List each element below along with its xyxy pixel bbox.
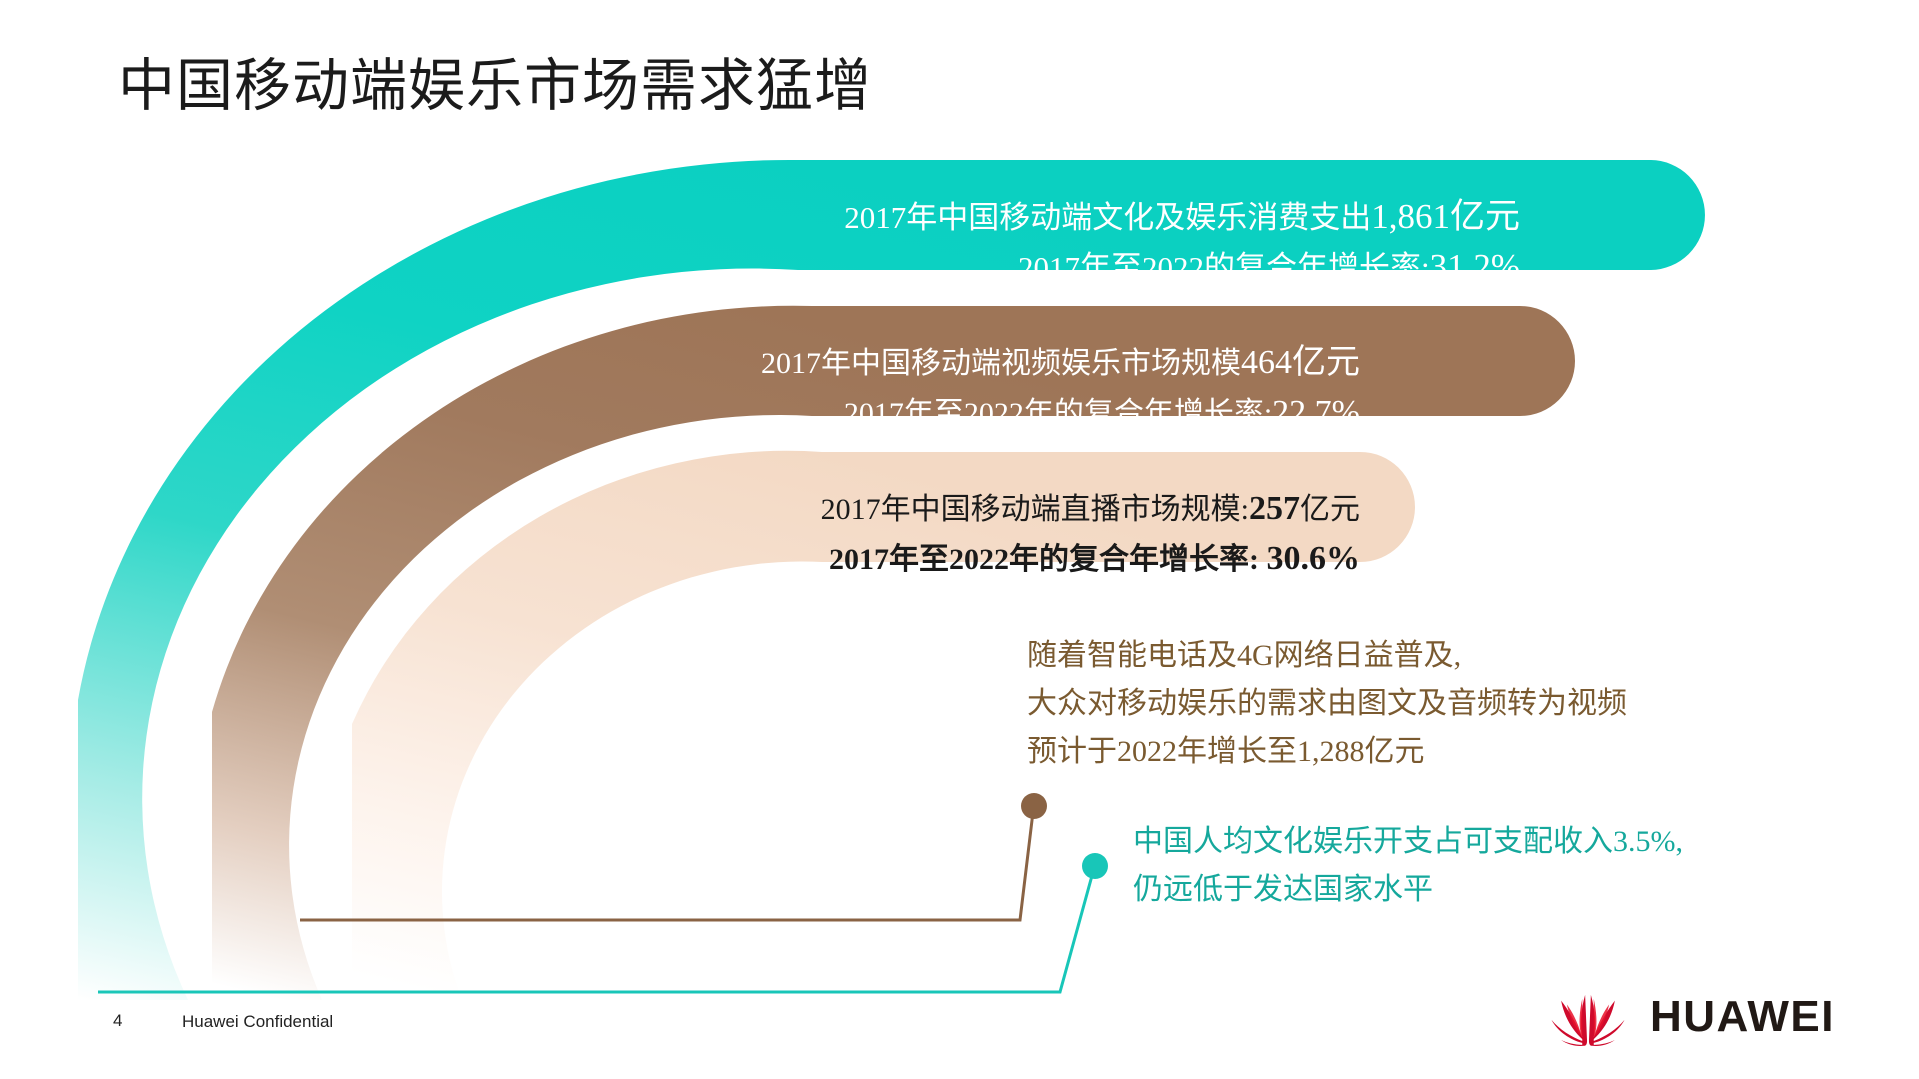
leader-dot-teal	[1082, 853, 1108, 879]
page-number: 4	[113, 1011, 122, 1031]
huawei-wordmark: HUAWEI	[1650, 995, 1835, 1039]
huawei-logo: HUAWEI	[1540, 982, 1880, 1052]
band-label-mobile-video-entertainment-market: 2017年中国移动端视频娱乐市场规模464亿元 2017年至2022年的复合年增…	[620, 338, 1360, 438]
band-label-mobile-culture-entertainment-spend: 2017年中国移动端文化及娱乐消费支出1,861亿元 2017年至2022的复合…	[760, 192, 1520, 292]
band1-line2: 2017年至2022的复合年增长率:31.2%	[760, 242, 1520, 292]
callout-teal: 中国人均文化娱乐开支占可支配收入3.5%, 仍远低于发达国家水平	[1133, 818, 1833, 914]
band3-line2: 2017年至2022年的复合年增长率: 30.6%	[560, 534, 1360, 584]
slide: 中国移动端娱乐市场需求猛增	[0, 0, 1919, 1079]
callout-teal-line1: 中国人均文化娱乐开支占可支配收入3.5%,	[1133, 818, 1833, 866]
band2-line2: 2017年至2022年的复合年增长率:22.7%	[620, 388, 1360, 438]
leader-dot-brown	[1021, 793, 1047, 819]
callout-brown-line2: 大众对移动娱乐的需求由图文及音频转为视频	[1027, 680, 1667, 728]
callout-brown: 随着智能电话及4G网络日益普及, 大众对移动娱乐的需求由图文及音频转为视频 预计…	[1027, 632, 1667, 776]
band3-line1: 2017年中国移动端直播市场规模:257亿元	[560, 484, 1360, 534]
callout-brown-line3: 预计于2022年增长至1,288亿元	[1027, 728, 1667, 776]
callout-teal-line2: 仍远低于发达国家水平	[1133, 866, 1833, 914]
callout-brown-line1: 随着智能电话及4G网络日益普及,	[1027, 632, 1667, 680]
confidentiality-label: Huawei Confidential	[182, 1012, 333, 1032]
band1-line1: 2017年中国移动端文化及娱乐消费支出1,861亿元	[760, 192, 1520, 242]
band2-line1: 2017年中国移动端视频娱乐市场规模464亿元	[620, 338, 1360, 388]
band-label-mobile-live-streaming-market: 2017年中国移动端直播市场规模:257亿元 2017年至2022年的复合年增长…	[560, 484, 1360, 584]
huawei-flower-icon	[1540, 987, 1636, 1047]
